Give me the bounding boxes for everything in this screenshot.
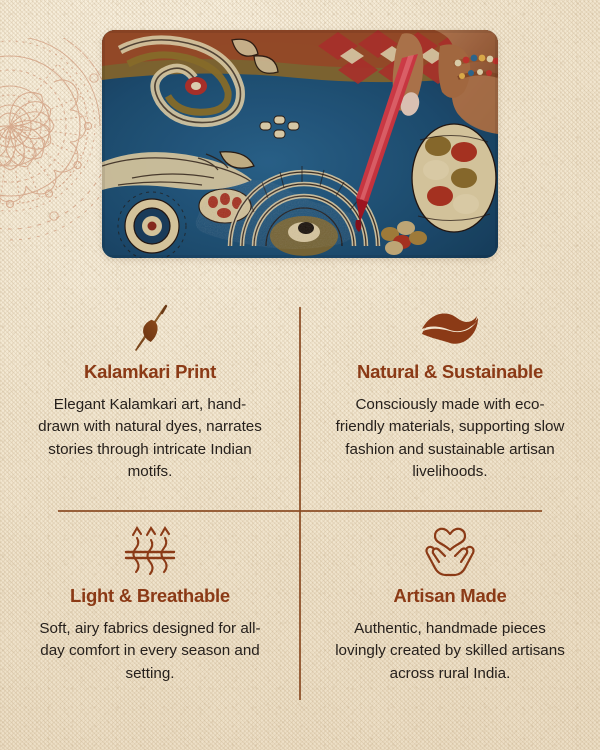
feature-description: Soft, airy fabrics designed for all-day …: [34, 618, 266, 685]
feature-title: Kalamkari Print: [84, 361, 216, 383]
infographic-page: Kalamkari Print Elegant Kalamkari art, h…: [0, 0, 600, 750]
kalamkari-artisan-photo: [102, 30, 498, 258]
feature-card-artisan-made: Artisan Made Authentic, handmade pieces …: [300, 510, 600, 710]
feature-title: Natural & Sustainable: [357, 361, 543, 383]
feature-title: Light & Breathable: [70, 585, 230, 607]
feature-grid: Kalamkari Print Elegant Kalamkari art, h…: [0, 300, 600, 710]
feature-description: Authentic, handmade pieces lovingly crea…: [334, 618, 566, 685]
hands-holding-heart-icon: [421, 524, 479, 580]
feature-title: Artisan Made: [393, 585, 506, 607]
kalam-pen-icon: [122, 300, 178, 356]
feature-description: Consciously made with eco-friendly mater…: [334, 394, 566, 483]
feature-card-light-breathable: Light & Breathable Soft, airy fabrics de…: [0, 510, 300, 710]
leaf-icon: [419, 300, 481, 356]
feature-card-natural-sustainable: Natural & Sustainable Consciously made w…: [300, 300, 600, 510]
feature-card-kalamkari-print: Kalamkari Print Elegant Kalamkari art, h…: [0, 300, 300, 510]
feature-description: Elegant Kalamkari art, hand-drawn with n…: [34, 394, 266, 483]
breathable-airflow-icon: [122, 524, 178, 580]
